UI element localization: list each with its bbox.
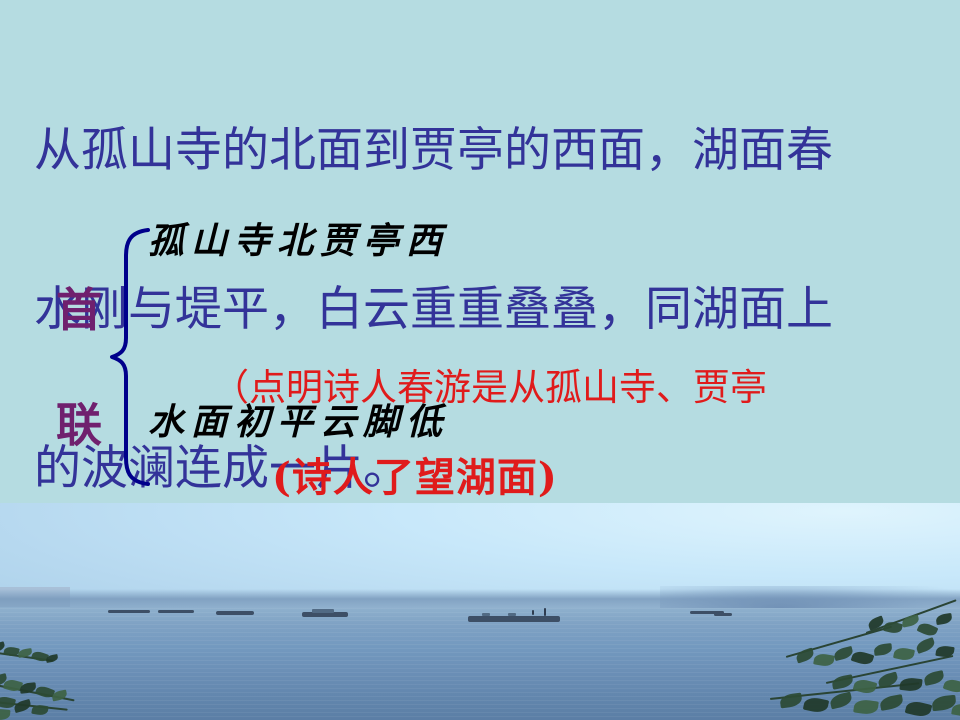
boat-cabin	[312, 609, 334, 613]
boat	[158, 610, 194, 613]
boat	[108, 610, 150, 613]
couplet-label-lian: 联	[44, 402, 114, 448]
boat	[468, 616, 560, 622]
boat	[302, 612, 348, 617]
foliage-right	[756, 610, 960, 720]
commentary-note-second: (诗人了望湖面)	[272, 454, 558, 501]
curly-brace-icon	[108, 226, 164, 488]
heading-line-1: 从孤山寺的北面到贾亭的西面，湖面春	[34, 124, 934, 177]
verse-line-second: 水面初平云脚低	[148, 402, 449, 442]
boat-passenger	[532, 610, 534, 615]
lake-photograph	[0, 503, 960, 720]
foliage-left	[0, 625, 125, 720]
boat	[216, 611, 254, 615]
photo-distant-hills	[660, 586, 960, 608]
slide-canvas: 从孤山寺的北面到贾亭的西面，湖面春 水刚与堤平，白云重重叠叠，同湖面上 的波澜连…	[0, 0, 960, 720]
verse-line-first: 孤山寺北贾亭西	[148, 221, 449, 261]
couplet-label-shou: 首	[44, 287, 114, 333]
boat-passenger	[544, 608, 546, 616]
boat-cabin	[508, 613, 516, 616]
boat	[714, 613, 732, 616]
boat-cabin	[482, 613, 490, 616]
couplet-diagram: 首 联 孤山寺北贾亭西 （点明诗人春游是从孤山寺、贾亭 一带起程的) 水面初平云…	[0, 210, 960, 505]
